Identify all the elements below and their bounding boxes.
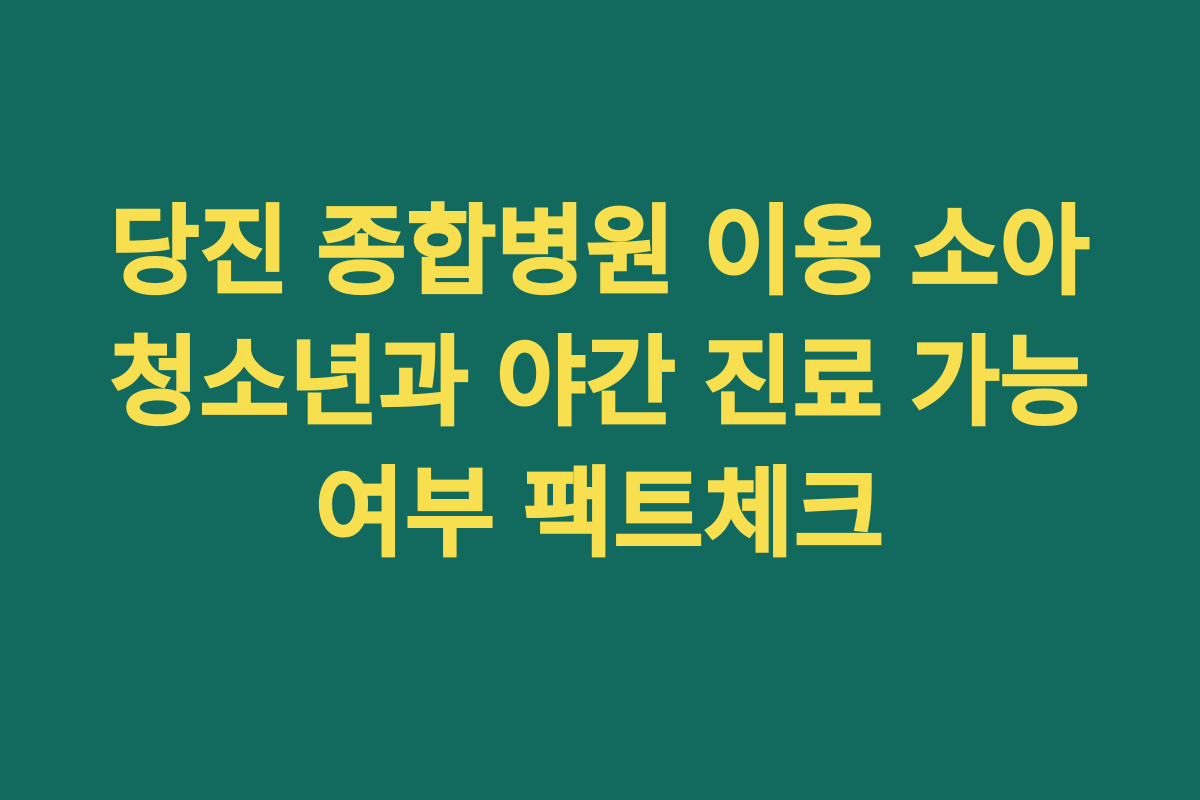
headline-block: 당진 종합병원 이용 소아 청소년과 야간 진료 가능 여부 팩트체크 (40, 186, 1160, 579)
headline-line-2: 청소년과 야간 진료 가능 (110, 317, 1090, 448)
headline-line-3: 여부 팩트체크 (315, 448, 884, 579)
headline-line-1: 당진 종합병원 이용 소아 (110, 186, 1090, 317)
text-thumbnail-card: 당진 종합병원 이용 소아 청소년과 야간 진료 가능 여부 팩트체크 (0, 0, 1200, 800)
